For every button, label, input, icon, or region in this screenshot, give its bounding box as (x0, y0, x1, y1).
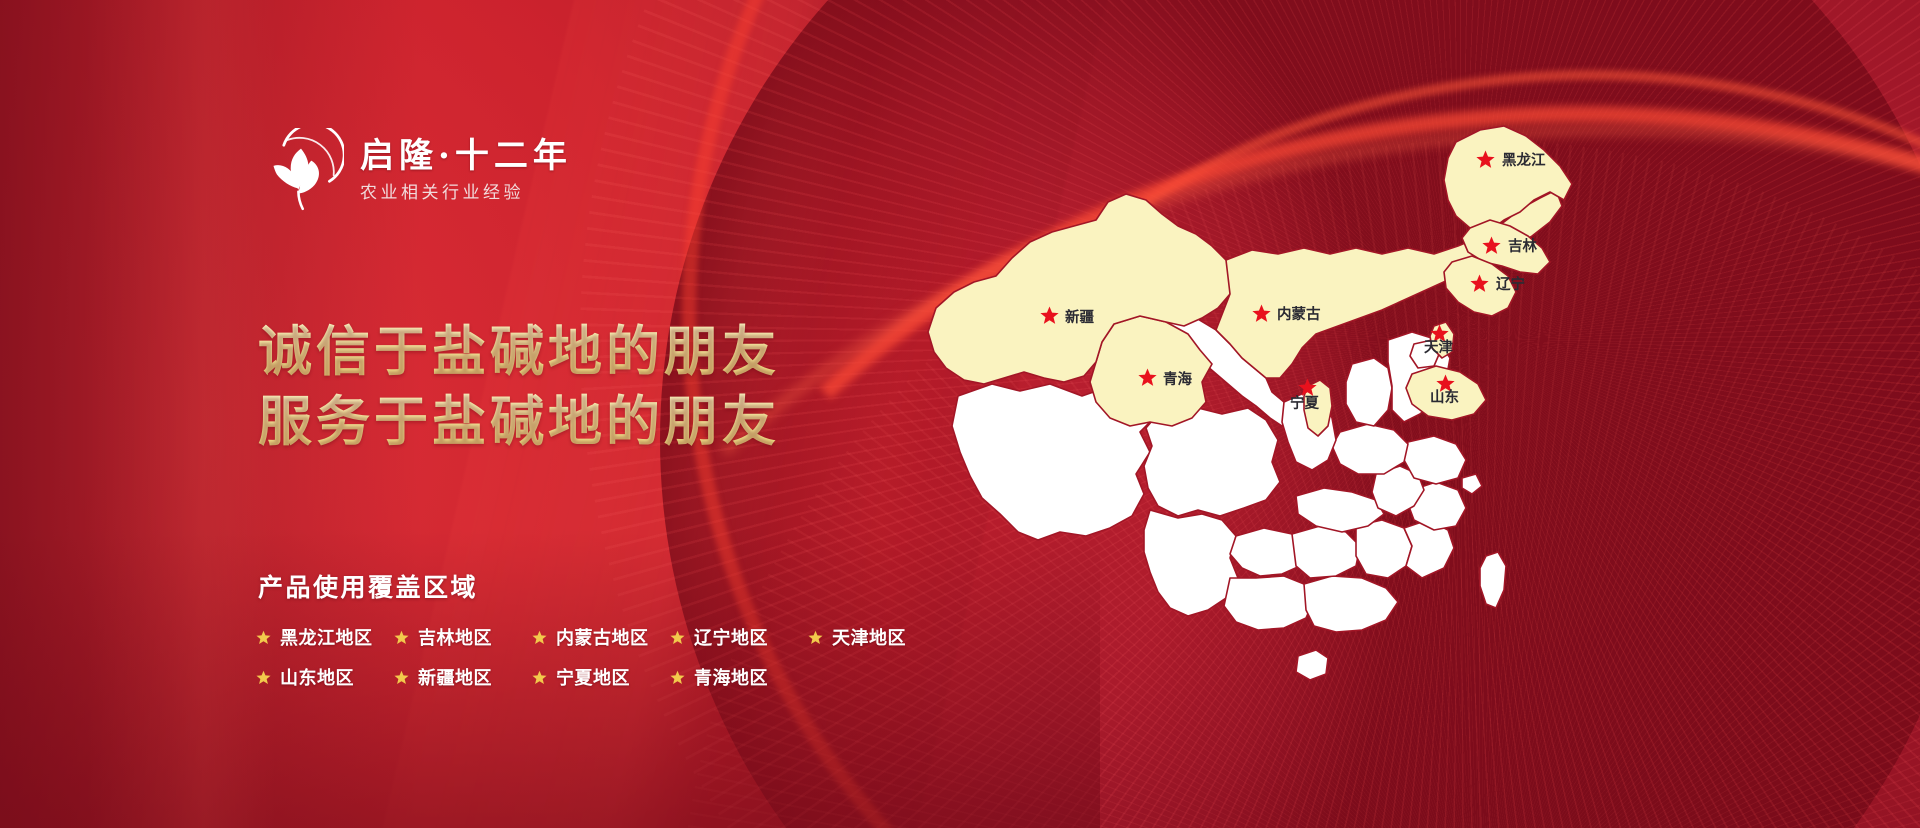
brand-logo-text: 启隆·十二年 农业相关行业经验 (360, 139, 572, 204)
brand-logo: 启隆·十二年 农业相关行业经验 (258, 128, 572, 214)
list-item-label: 青海地区 (694, 664, 768, 690)
list-item: 青海地区 (670, 664, 808, 690)
map-label-liaoning: 辽宁 (1496, 275, 1525, 293)
list-item-label: 辽宁地区 (694, 624, 768, 650)
list-item-label: 宁夏地区 (556, 664, 630, 690)
map-label-ningxia: 宁夏 (1290, 394, 1319, 412)
coverage-region-list: 黑龙江地区 吉林地区 内蒙古地区 辽宁地区 天津地区 山东地区 (256, 624, 946, 690)
list-item: 宁夏地区 (532, 664, 670, 690)
coverage-section-title: 产品使用覆盖区域 (258, 568, 478, 604)
list-item-label: 黑龙江地区 (280, 624, 373, 650)
list-item: 黑龙江地区 (256, 624, 394, 650)
headline-line-2: 服务于盐碱地的朋友 (258, 386, 898, 456)
map-label-shandong: 山东 (1430, 388, 1459, 406)
headline: 诚信于盐碱地的朋友 服务于盐碱地的朋友 (258, 316, 898, 456)
star-icon (532, 630, 547, 645)
list-item-label: 内蒙古地区 (556, 624, 649, 650)
map-label-tianjin: 天津 (1424, 338, 1453, 356)
map-label-neimenggu: 内蒙古 (1277, 305, 1321, 323)
list-item-label: 天津地区 (832, 624, 906, 650)
list-item: 吉林地区 (394, 624, 532, 650)
list-item-label: 新疆地区 (418, 664, 492, 690)
list-item: 新疆地区 (394, 664, 532, 690)
list-item: 辽宁地区 (670, 624, 808, 650)
list-item: 内蒙古地区 (532, 624, 670, 650)
map-label-heilongjiang: 黑龙江 (1502, 151, 1546, 169)
list-item: 山东地区 (256, 664, 394, 690)
map-label-qinghai: 青海 (1163, 370, 1192, 388)
star-icon (532, 670, 547, 685)
map-label-jilin: 吉林 (1508, 237, 1537, 255)
headline-line-1: 诚信于盐碱地的朋友 (258, 316, 898, 386)
leaf-emblem-icon (258, 128, 344, 214)
china-coverage-map: 黑龙江 吉林 辽宁 内蒙古 天津 山东 宁夏 新疆 青海 (900, 96, 1620, 756)
star-icon (394, 630, 409, 645)
star-icon (670, 670, 685, 685)
brand-subtitle: 农业相关行业经验 (360, 178, 572, 203)
banner-content: 启隆·十二年 农业相关行业经验 诚信于盐碱地的朋友 服务于盐碱地的朋友 产品使用… (0, 0, 900, 828)
promo-banner: 启隆·十二年 农业相关行业经验 诚信于盐碱地的朋友 服务于盐碱地的朋友 产品使用… (0, 0, 1920, 828)
star-icon (256, 630, 271, 645)
map-label-xinjiang: 新疆 (1065, 308, 1094, 326)
star-icon (256, 670, 271, 685)
star-icon (394, 670, 409, 685)
list-item-label: 吉林地区 (418, 624, 492, 650)
star-icon (808, 630, 823, 645)
star-icon (670, 630, 685, 645)
list-item-label: 山东地区 (280, 664, 354, 690)
brand-title: 启隆·十二年 (360, 139, 572, 175)
